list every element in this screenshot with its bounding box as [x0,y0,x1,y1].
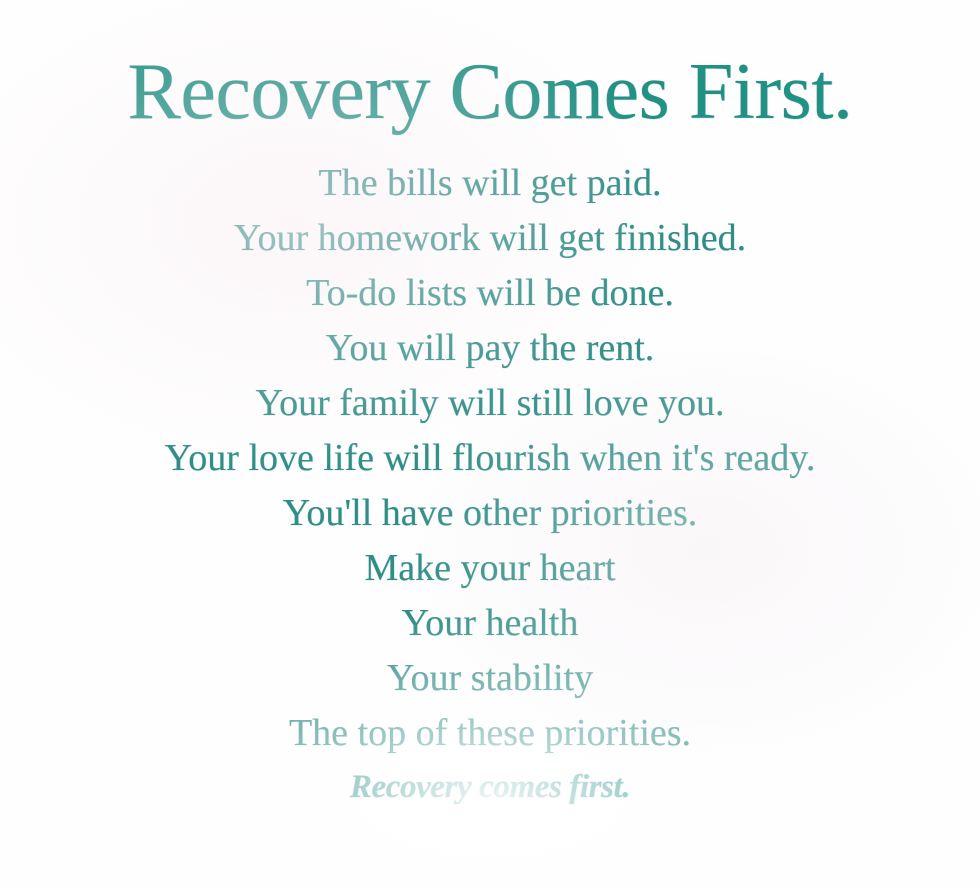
poster-line-2: Your homework will get finished. [0,211,980,266]
poster-closing-line: Recovery comes first. [0,761,980,813]
poster-line-3: To-do lists will be done. [0,266,980,321]
poster-line-5: Your family will still love you. [0,376,980,431]
poster-line-1: The bills will get paid. [0,132,980,211]
poster-content: Recovery Comes First. The bills will get… [0,0,980,813]
poster-line-11: The top of these priorities. [0,706,980,761]
poster-line-8: Make your heart [0,541,980,596]
poster-body-lines: The bills will get paid. Your homework w… [0,132,980,813]
poster-line-10: Your stability [0,651,980,706]
poster-line-7: You'll have other priorities. [0,486,980,541]
poster-line-6: Your love life will flourish when it's r… [0,431,980,486]
page-title: Recovery Comes First. [0,0,980,132]
poster-line-9: Your health [0,596,980,651]
poster-canvas: Recovery Comes First. The bills will get… [0,0,980,886]
poster-line-4: You will pay the rent. [0,321,980,376]
